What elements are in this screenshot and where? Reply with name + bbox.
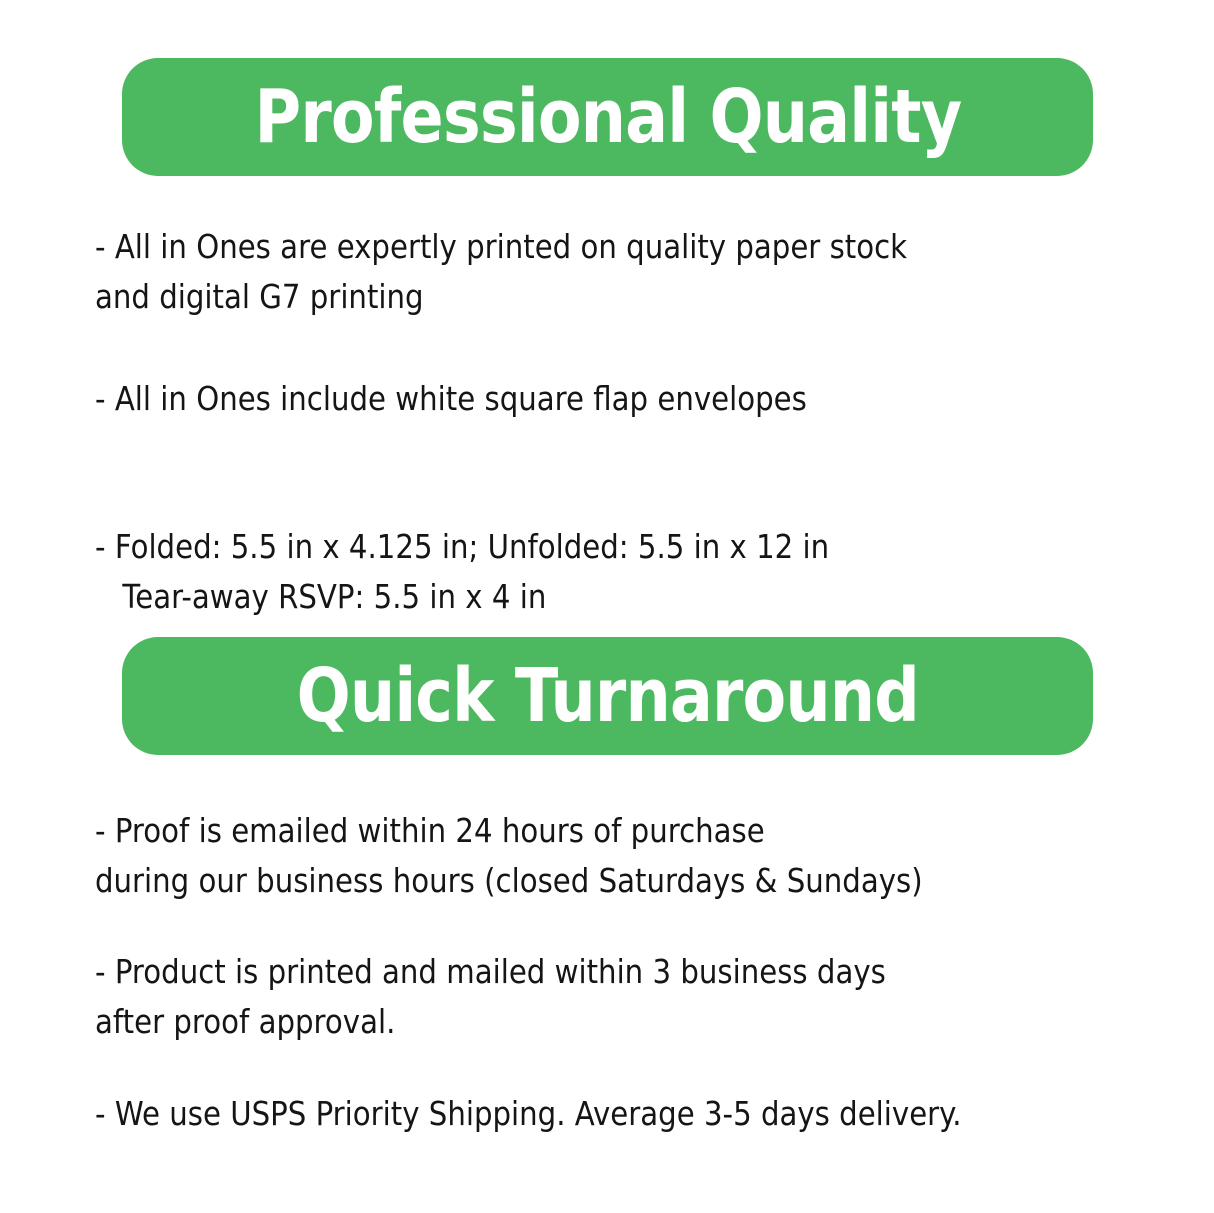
bullet-proof-email: - Proof is emailed within 24 hours of pu… [95,806,1051,906]
bullet-dimensions-line-2: Tear-away RSVP: 5.5 in x 4 in [95,572,1051,622]
bullet-print-and-mail: - Product is printed and mailed within 3… [95,947,1051,1047]
bullet-dimensions-line-1: - Folded: 5.5 in x 4.125 in; Unfolded: 5… [95,527,829,566]
banner-quick-turnaround: Quick Turnaround [122,637,1093,755]
bullet-shipping: - We use USPS Priority Shipping. Average… [95,1089,1051,1139]
bullet-paper-stock: - All in Ones are expertly printed on qu… [95,222,1051,322]
info-graphic-page: Professional Quality - All in Ones are e… [0,0,1214,1213]
banner-quick-turnaround-label: Quick Turnaround [296,659,918,733]
banner-professional-quality-label: Professional Quality [254,80,961,154]
bullet-envelopes: - All in Ones include white square flap … [95,374,1051,424]
banner-professional-quality: Professional Quality [122,58,1093,176]
